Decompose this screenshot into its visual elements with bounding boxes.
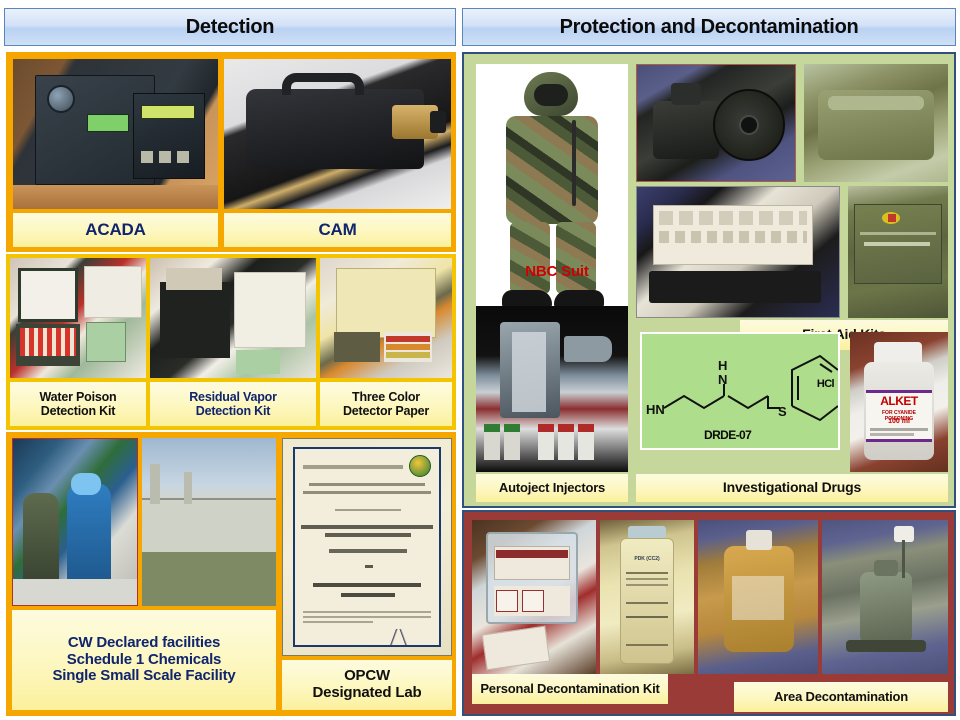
acada-cam-group: ACADA CAM [6,52,456,252]
alket-bottle-photo: ALKET FOR CYANIDE POISONING 100 ml [850,332,948,472]
header-detection: Detection [4,8,456,46]
three-color-detector-paper-photo [320,258,452,378]
protection-group: NBC Suit [462,52,956,508]
cam-chemical-agent-monitor-photo [224,59,451,209]
caption-personal-decon-kit: Personal Decontamination Kit [472,674,668,704]
decontamination-group: PDK (CC2) Personal De [462,510,956,716]
header-protection-label: Protection and Decontamination [560,16,859,39]
caption-acada: ACADA [13,213,218,247]
caption-three-color-paper: Three Color Detector Paper [320,382,452,426]
caption-autoject-injectors: Autoject Injectors [476,474,628,502]
drde-07-structure-diagram: HN H N S HCl DRDE-07 [640,332,840,450]
pdk-cc2-bottle-photo: PDK (CC2) [600,520,694,674]
caption-opcw-designated-lab: OPCW Designated Lab [282,660,452,710]
caption-cam: CAM [224,213,451,247]
facilities-opcw-group: CW Declared facilities Schedule 1 Chemic… [6,432,456,716]
svg-text:H: H [718,358,727,373]
caption-residual-vapor-kit: Residual Vapor Detection Kit [150,382,316,426]
residual-vapor-detection-kit-photo [150,258,316,378]
label-nbc-suit: NBC Suit [522,250,592,294]
header-detection-label: Detection [186,16,274,39]
medical-kit-open-photo [636,186,840,318]
opcw-certificate-photo [282,438,452,656]
decon-jerrycan-photo [698,520,818,674]
caption-area-decontamination: Area Decontamination [734,682,948,712]
caption-cw-declared-facilities: CW Declared facilities Schedule 1 Chemic… [12,610,276,710]
autoject-injectors-photo [476,306,628,472]
plant-building-photo [142,438,276,606]
lab-scientists-photo [12,438,138,606]
protection-decon-column: NBC Suit [462,52,956,716]
caption-investigational-drugs: Investigational Drugs [636,474,948,502]
svg-text:HN: HN [646,402,665,417]
header-protection-decontamination: Protection and Decontamination [462,8,956,46]
svg-text:S: S [778,404,787,419]
detection-kits-group: Water Poison Detection Kit Residual Vapo… [6,254,456,430]
poster-root: Detection Protection and Decontamination [0,0,960,720]
caption-water-poison-kit: Water Poison Detection Kit [10,382,146,426]
first-aid-kit-cw-type-b-photo [848,186,948,318]
personal-decon-kit-photo [472,520,596,674]
gas-mask-canister-photo [636,64,796,182]
detection-column: ACADA CAM [4,52,456,716]
chem-atom-hcl: HCl [817,378,834,390]
filter-canister-tin-photo [804,64,948,182]
knapsack-sprayer-photo [822,520,948,674]
acada-analyser-photo [13,59,218,209]
chem-label-drde07: DRDE-07 [704,428,751,442]
svg-text:N: N [718,372,727,387]
water-poison-detection-kit-photo [10,258,146,378]
